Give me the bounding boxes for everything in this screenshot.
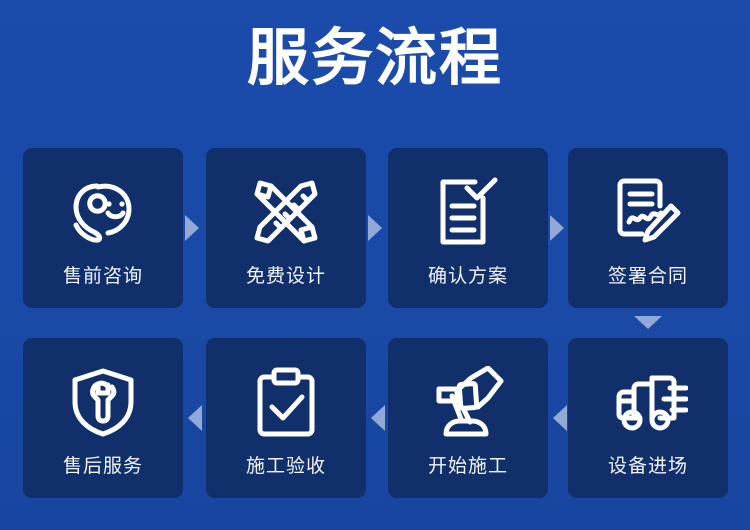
excavator-icon <box>388 360 548 444</box>
arrow-3-to-4-icon <box>550 215 564 241</box>
arrow-5-to-6-icon <box>553 405 567 431</box>
step-label: 开始施工 <box>388 454 548 478</box>
arrow-4-to-5-icon <box>634 316 662 329</box>
page-title: 服务流程 <box>0 22 750 94</box>
delivery-truck-icon <box>568 360 728 444</box>
step-card-aftersale-service[interactable]: 售后服务 <box>23 338 183 498</box>
arrow-7-to-8-icon <box>188 405 202 431</box>
step-label: 售后服务 <box>23 454 183 478</box>
pencil-ruler-icon <box>206 170 366 254</box>
step-label: 售前咨询 <box>23 264 183 288</box>
step-card-presale-consult[interactable]: 售前咨询 <box>23 148 183 308</box>
contract-signature-icon <box>568 170 728 254</box>
shield-wrench-icon <box>23 360 183 444</box>
clipboard-check-icon <box>206 360 366 444</box>
arrow-2-to-3-icon <box>368 215 382 241</box>
clipboard-check-list-icon <box>388 170 548 254</box>
step-label: 设备进场 <box>568 454 728 478</box>
arrow-6-to-7-icon <box>371 405 385 431</box>
step-card-construction-acceptance[interactable]: 施工验收 <box>206 338 366 498</box>
step-card-free-design[interactable]: 免费设计 <box>206 148 366 308</box>
step-card-sign-contract[interactable]: 签署合同 <box>568 148 728 308</box>
phone-smile-icon <box>23 170 183 254</box>
step-card-start-construction[interactable]: 开始施工 <box>388 338 548 498</box>
step-label: 确认方案 <box>388 264 548 288</box>
service-process-infographic: 服务流程 售前咨询 <box>0 0 750 530</box>
step-label: 施工验收 <box>206 454 366 478</box>
step-card-equipment-arrival[interactable]: 设备进场 <box>568 338 728 498</box>
arrow-1-to-2-icon <box>185 215 199 241</box>
step-card-confirm-plan[interactable]: 确认方案 <box>388 148 548 308</box>
step-label: 免费设计 <box>206 264 366 288</box>
step-label: 签署合同 <box>568 264 728 288</box>
